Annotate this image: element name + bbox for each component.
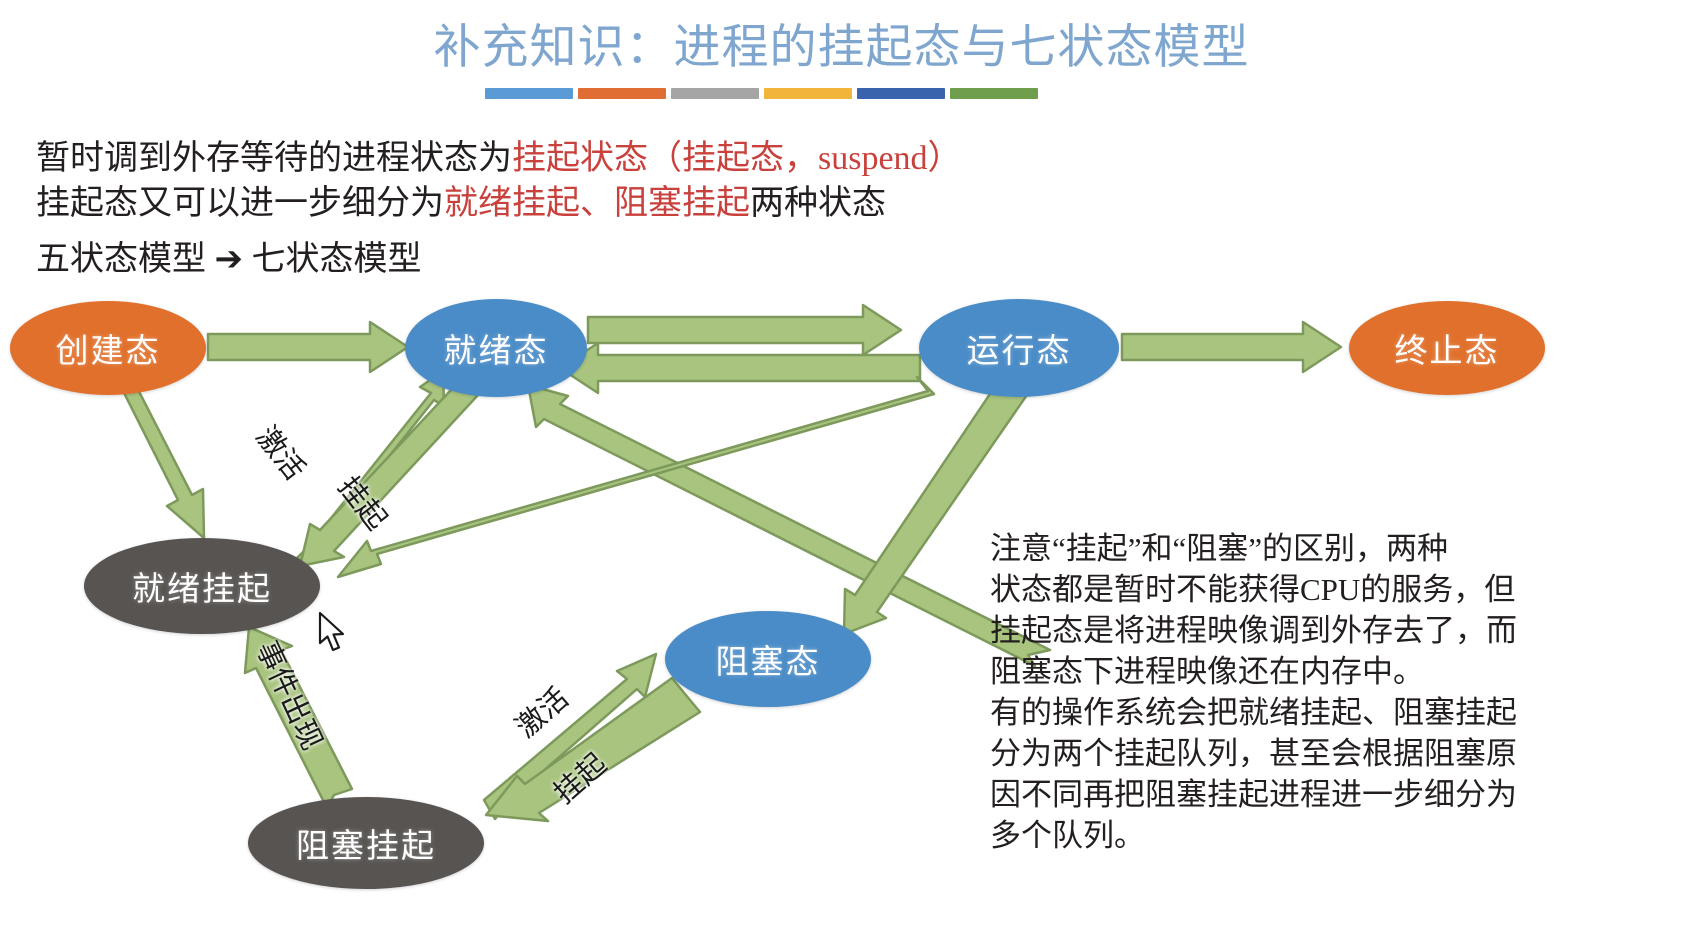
node-running[interactable]: 运行态 (919, 299, 1119, 397)
arrow-ready-to-running (588, 305, 901, 355)
mouse-cursor-icon (318, 612, 352, 654)
node-blocked-suspend-label: 阻塞挂起 (296, 819, 436, 867)
slide-canvas: 补充知识：进程的挂起态与七状态模型 暂时调到外存等待的进程状态为挂起状态（挂起态… (0, 0, 1683, 947)
node-terminated-label: 终止态 (1395, 324, 1500, 372)
node-blocked[interactable]: 阻塞态 (665, 611, 871, 707)
note-line-4: 阻塞态下进程映像还在内存中。 (990, 651, 1680, 692)
note-line-3: 挂起态是将进程映像调到外存去了，而 (990, 610, 1680, 651)
arrow-running-to-terminated (1122, 322, 1341, 372)
arrow-new-to-ready (208, 322, 408, 372)
node-running-label: 运行态 (967, 324, 1072, 372)
note-line-5: 有的操作系统会把就绪挂起、阻塞挂起 (990, 692, 1680, 733)
node-ready-label: 就绪态 (444, 324, 549, 372)
node-blocked-label: 阻塞态 (716, 635, 821, 683)
note-line-6: 分为两个挂起队列，甚至会根据阻塞原 (990, 733, 1680, 774)
node-ready-suspend-label: 就绪挂起 (132, 562, 272, 610)
node-new-label: 创建态 (56, 324, 161, 372)
arrow-new-to-ready-suspend (107, 372, 204, 538)
note-line-7: 因不同再把阻塞挂起进程进一步细分为 (990, 774, 1680, 815)
node-ready-suspend[interactable]: 就绪挂起 (84, 538, 320, 634)
note-line-2: 状态都是暂时不能获得CPU的服务，但 (990, 569, 1680, 610)
node-new[interactable]: 创建态 (10, 301, 206, 395)
arrow-ready-to-ready-suspend (300, 375, 478, 566)
note-line-8: 多个队列。 (990, 815, 1680, 856)
note-line-1: 注意“挂起”和“阻塞”的区别，两种 (990, 528, 1680, 569)
node-ready[interactable]: 就绪态 (405, 299, 587, 397)
note-text-block: 注意“挂起”和“阻塞”的区别，两种 状态都是暂时不能获得CPU的服务，但 挂起态… (990, 528, 1680, 856)
node-terminated[interactable]: 终止态 (1349, 301, 1545, 395)
node-blocked-suspend[interactable]: 阻塞挂起 (248, 797, 484, 889)
